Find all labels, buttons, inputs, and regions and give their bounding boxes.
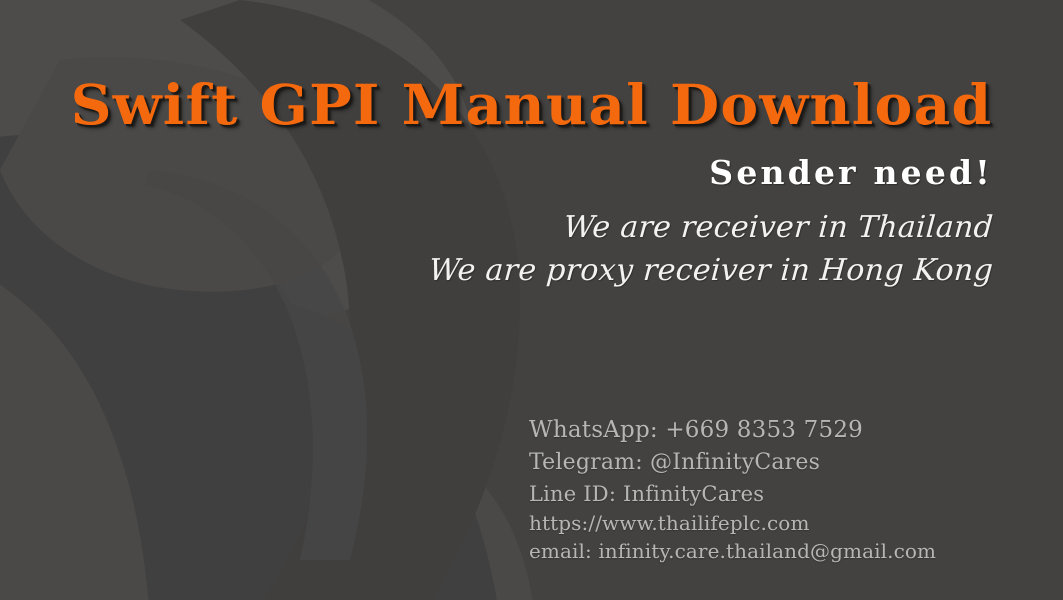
poster-subtitle: Sender need! — [709, 152, 993, 194]
contact-whatsapp[interactable]: WhatsApp: +669 8353 7529 — [529, 414, 936, 447]
tagline-line-2: We are proxy receiver in Hong Kong — [427, 249, 994, 292]
tagline-line-1: We are receiver in Thailand — [427, 206, 994, 249]
contact-block: WhatsApp: +669 8353 7529 Telegram: @Infi… — [529, 414, 936, 566]
contact-website[interactable]: https://www.thailifeplc.com — [529, 509, 936, 537]
poster-canvas: Swift GPI Manual Download Sender need! W… — [0, 0, 1063, 600]
contact-line-id[interactable]: Line ID: InfinityCares — [529, 479, 936, 509]
tagline-block: We are receiver in Thailand We are proxy… — [429, 206, 993, 292]
poster-title-row: Swift GPI Manual Download — [0, 74, 1063, 136]
contact-email[interactable]: email: infinity.care.thailand@gmail.com — [529, 537, 936, 566]
poster-title: Swift GPI Manual Download — [71, 74, 993, 136]
poster-subtitle-row: Sender need! — [709, 152, 993, 194]
contact-telegram[interactable]: Telegram: @InfinityCares — [529, 447, 936, 479]
